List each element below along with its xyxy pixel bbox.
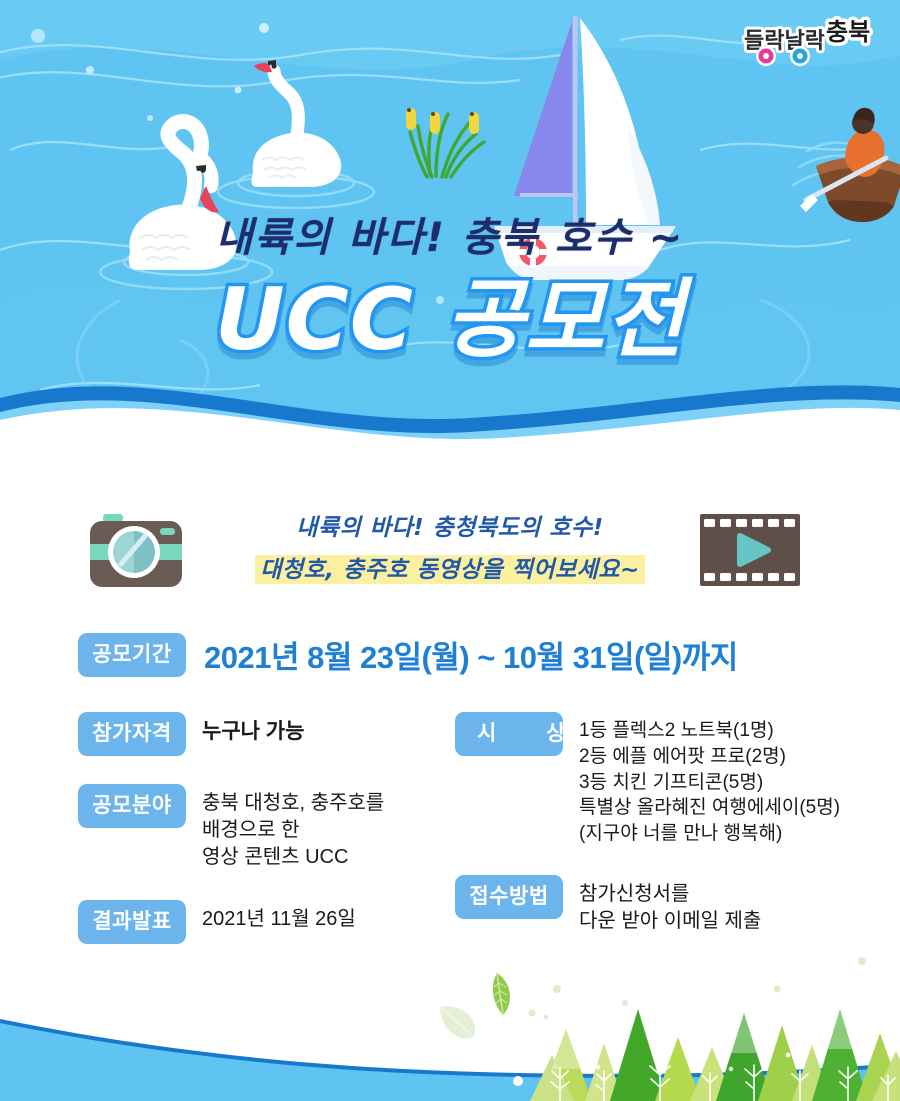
info-row: 공모분야 충북 대청호, 충주호를 배경으로 한 영상 콘텐츠 UCC [78, 784, 448, 872]
middle-line-2-highlight: 대청호, 충주호 동영상을 찍어보세요~ [255, 555, 644, 584]
info-row: 접수방법 참가신청서를 다운 받아 이메일 제출 [455, 875, 875, 935]
deullak-nallak-chungbuk-logo: 들락날락 들락날락 충북 충북 [742, 12, 882, 84]
hero-lake-scene: 들락날락 들락날락 충북 충북 내륙의 바다! 충북 호수 ~ UCC 공모전 [0, 0, 900, 470]
results-badge: 결과발표 [78, 900, 186, 944]
results-value: 2021년 11월 26일 [202, 900, 356, 933]
info-row: 참가자격 누구나 가능 [78, 712, 448, 756]
camera-icon [88, 512, 184, 588]
submission-badge: 접수방법 [455, 875, 563, 919]
eligibility-badge: 참가자격 [78, 712, 186, 756]
period-row: 공모기간 2021년 8월 23일(월) ~ 10월 31일(일)까지 [78, 632, 738, 677]
left-info-column: 참가자격 누구나 가능 공모분야 충북 대청호, 충주호를 배경으로 한 영상 … [78, 712, 448, 972]
period-badge: 공모기간 [78, 633, 186, 677]
eligibility-value: 누구나 가능 [202, 712, 304, 747]
footer-forest-scene [0, 951, 900, 1101]
reed-plant-icon [406, 108, 484, 177]
hero-script-title: 내륙의 바다! 충북 호수 ~ [0, 205, 900, 263]
category-value: 충북 대청호, 충주호를 배경으로 한 영상 콘텐츠 UCC [202, 784, 384, 872]
svg-text:충북: 충북 [826, 18, 870, 46]
film-play-icon [700, 514, 800, 586]
leaf-icon [440, 1006, 475, 1038]
middle-line-1: 내륙의 바다! 충청북도의 호수! [200, 508, 700, 542]
middle-text-block: 내륙의 바다! 충청북도의 호수! 대청호, 충주호 동영상을 찍어보세요~ [200, 508, 700, 584]
category-badge: 공모분야 [78, 784, 186, 828]
info-row: 결과발표 2021년 11월 26일 [78, 900, 448, 944]
pine-tree-icon [530, 1009, 900, 1101]
footer-illustration [0, 951, 900, 1101]
hero-main-title: UCC 공모전 [0, 272, 900, 368]
middle-banner: 내륙의 바다! 충청북도의 호수! 대청호, 충주호 동영상을 찍어보세요~ [0, 500, 900, 600]
right-info-column: 시 상 1등 플렉스2 노트북(1명) 2등 에플 에어팟 프로(2명) 3등 … [455, 712, 875, 964]
period-value: 2021년 8월 23일(월) ~ 10월 31일(일)까지 [204, 632, 738, 677]
poster-root: 들락날락 들락날락 충북 충북 내륙의 바다! 충북 호수 ~ UCC 공모전 [0, 0, 900, 1101]
leaf-icon [493, 973, 510, 1015]
awards-value: 1등 플렉스2 노트북(1명) 2등 에플 에어팟 프로(2명) 3등 치킨 기… [579, 712, 840, 847]
submission-value: 참가신청서를 다운 받아 이메일 제출 [579, 875, 761, 935]
info-row: 시 상 1등 플렉스2 노트북(1명) 2등 에플 에어팟 프로(2명) 3등 … [455, 712, 875, 847]
middle-line-2: 대청호, 충주호 동영상을 찍어보세요~ [200, 550, 700, 584]
logo-text-left: 들락날락 [744, 29, 825, 54]
awards-badge: 시 상 [455, 712, 563, 756]
